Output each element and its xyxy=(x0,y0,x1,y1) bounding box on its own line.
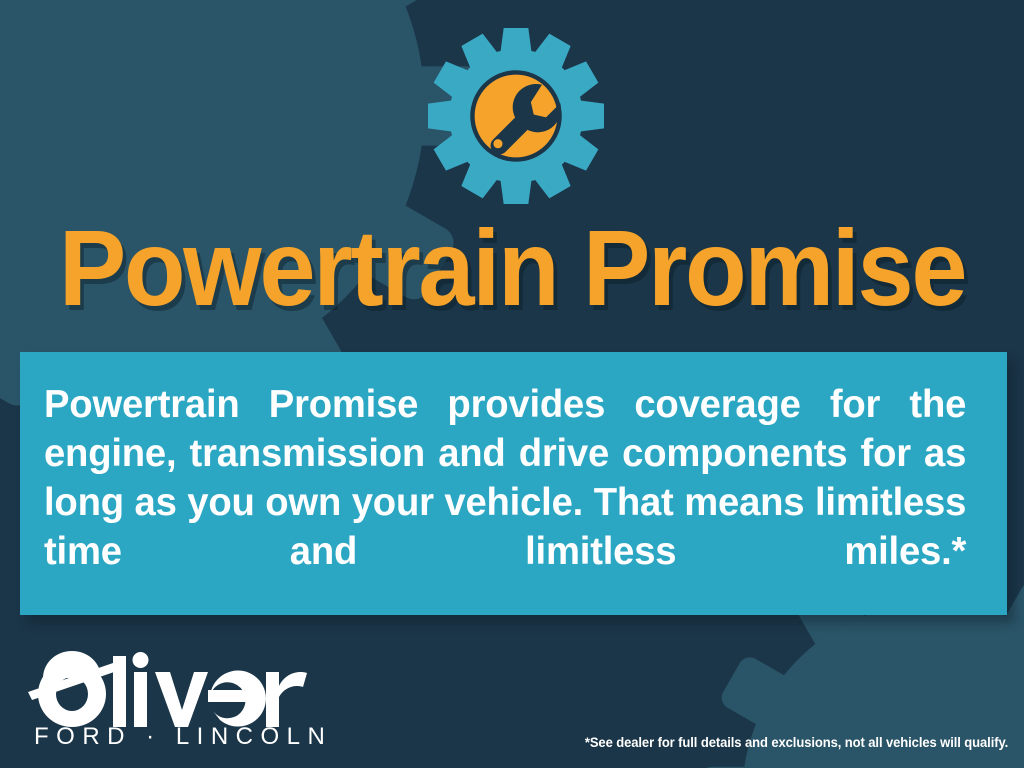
powertrain-promise-graphic: Powertrain Promise Powertrain Promise pr… xyxy=(0,0,1024,768)
page-title: Powertrain Promise xyxy=(33,216,990,320)
dealer-logo-subtitle: FORD · LINCOLN xyxy=(34,724,334,750)
promise-panel: Powertrain Promise provides coverage for… xyxy=(20,352,1007,615)
oliver-wordmark xyxy=(24,638,334,730)
promise-body-text: Powertrain Promise provides coverage for… xyxy=(44,380,966,625)
dealer-logo: FORD · LINCOLN xyxy=(24,638,334,758)
disclaimer-text: *See dealer for full details and exclusi… xyxy=(585,733,1008,751)
gear-wrench-icon xyxy=(428,28,604,204)
